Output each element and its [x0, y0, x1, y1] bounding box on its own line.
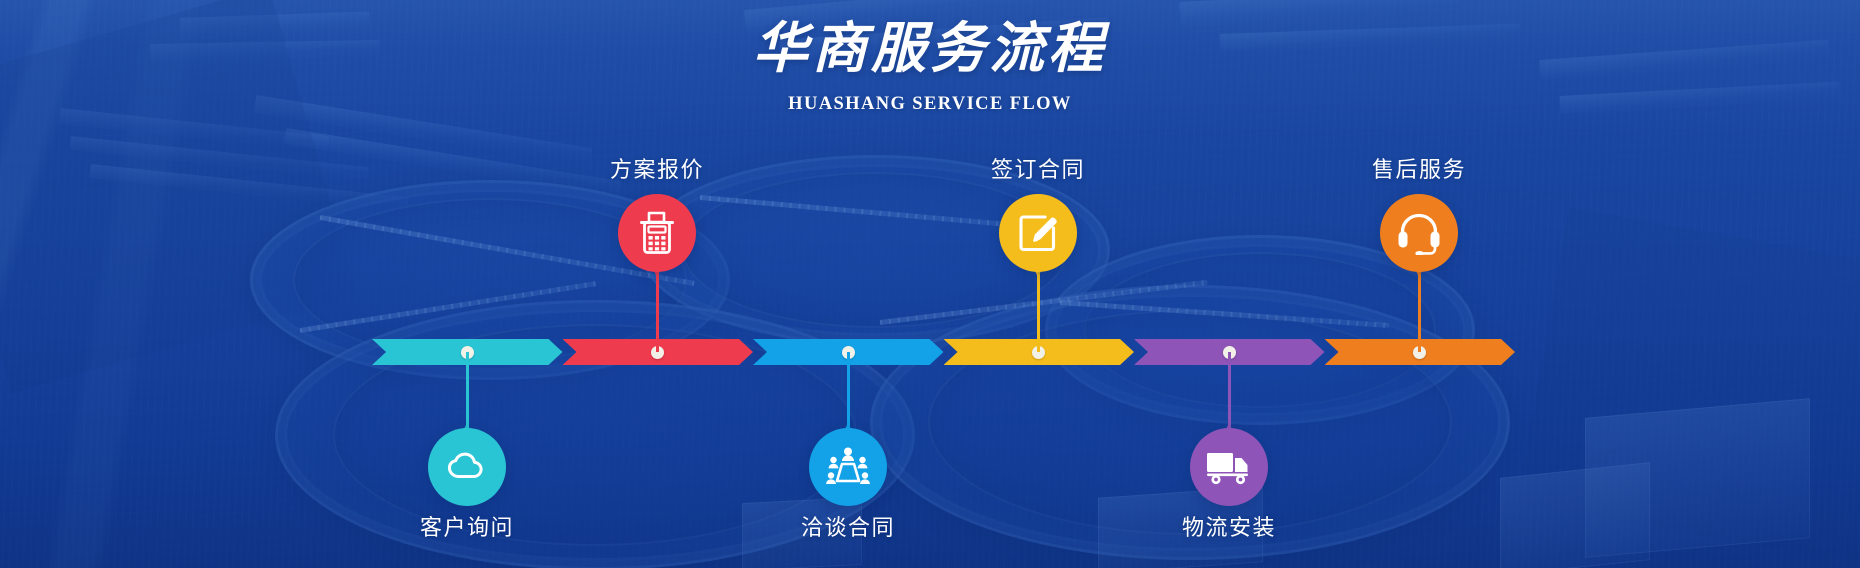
pen-edit-icon [1015, 210, 1061, 256]
page-title: 华商服务流程 [0, 18, 1860, 80]
step-connector [1037, 274, 1040, 352]
step-connector [466, 352, 469, 430]
flow-step-6-label: 售后服务 [1289, 152, 1549, 184]
flow-step-5-bubble[interactable] [1190, 428, 1268, 506]
flow-step-4-label: 签订合同 [908, 152, 1168, 184]
flow-step-4-bubble[interactable] [999, 194, 1077, 272]
flow-step-1-label: 客户询问 [337, 510, 597, 542]
flow-step-5-label: 物流安装 [1099, 510, 1359, 542]
meeting-table-icon [825, 445, 871, 489]
step-connector [1228, 352, 1231, 430]
calculator-icon [636, 210, 678, 256]
step-connector [656, 274, 659, 352]
flow-arrow-bar [372, 339, 1515, 365]
flow-step-6-bubble[interactable] [1380, 194, 1458, 272]
step-connector [1418, 274, 1421, 352]
title-block: 华商服务流程 HUASHANG SERVICE FLOW [0, 18, 1860, 115]
flow-step-2-bubble[interactable] [618, 194, 696, 272]
flow-step-3-label: 洽谈合同 [718, 510, 978, 542]
truck-icon [1205, 448, 1253, 486]
cloud-icon [445, 445, 489, 489]
headset-icon [1396, 211, 1442, 255]
flow-step-2-label: 方案报价 [527, 152, 787, 184]
step-connector [847, 352, 850, 430]
flow-step-3-bubble[interactable] [809, 428, 887, 506]
service-flow-banner: 华商服务流程 HUASHANG SERVICE FLOW [0, 0, 1860, 568]
page-subtitle: HUASHANG SERVICE FLOW [0, 94, 1860, 115]
flow-step-1-bubble[interactable] [428, 428, 506, 506]
